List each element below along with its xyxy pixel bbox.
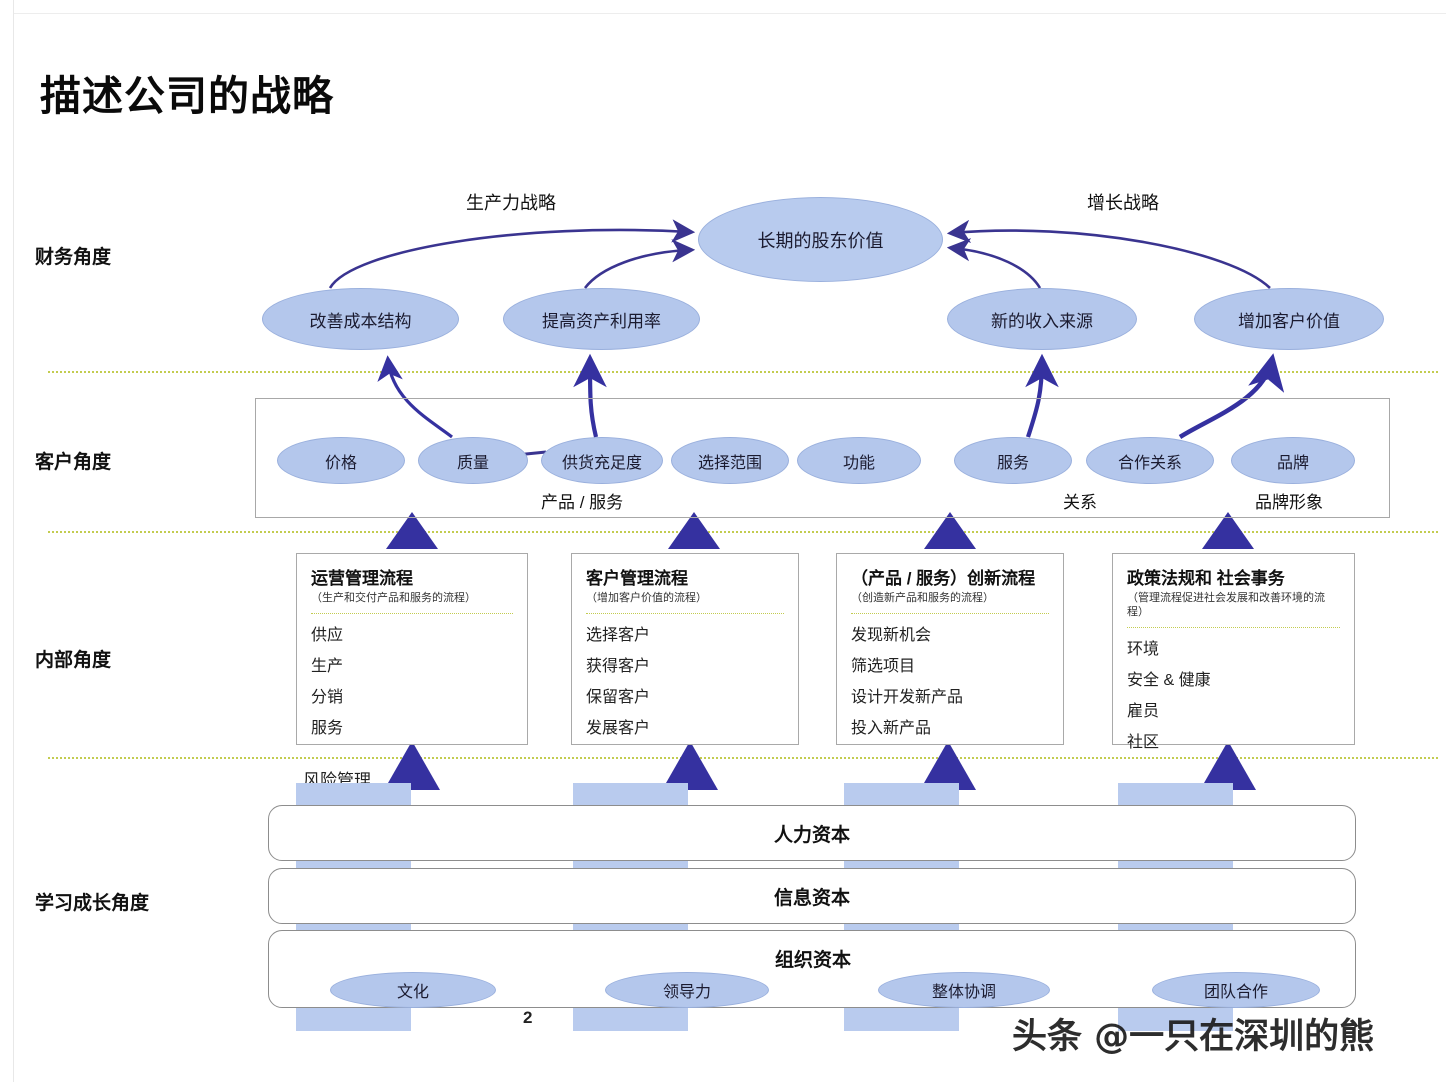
process-item: 安全 & 健康 (1127, 665, 1340, 696)
process-item: 获得客户 (586, 651, 784, 682)
process-item: 社区 (1127, 727, 1340, 758)
strategy-map-slide: 描述公司的战略 财务角度 客户角度 内部角度 学习成长角度 生产力战略 增长战略 (0, 0, 1446, 1082)
row-label-financial: 财务角度 (35, 242, 111, 269)
process-item: 发展客户 (586, 713, 784, 744)
process-item: 保留客户 (586, 682, 784, 713)
process-item: 投入新产品 (851, 713, 1049, 744)
process-item: 供应 (311, 620, 513, 651)
ellipse-culture[interactable]: 文化 (330, 972, 496, 1008)
process-subtitle: （管理流程促进社会发展和改善环境的流程） (1127, 592, 1340, 620)
ellipse-shareholder-value[interactable]: 长期的股东价值 (698, 197, 943, 282)
ellipse-alignment[interactable]: 整体协调 (878, 972, 1050, 1008)
process-rule (1127, 627, 1340, 628)
ellipse-brand[interactable]: 品牌 (1231, 437, 1355, 484)
slide-top-edge (0, 0, 1446, 14)
process-item: 生产 (311, 651, 513, 682)
process-item: 发现新机会 (851, 620, 1049, 651)
ellipse-quality[interactable]: 质量 (418, 437, 528, 484)
capital-title: 组织资本 (269, 945, 1357, 972)
process-item: 服务 (311, 713, 513, 744)
process-subtitle: （生产和交付产品和服务的流程） (311, 592, 513, 606)
capital-title: 人力资本 (774, 820, 850, 847)
process-item: 分销 (311, 682, 513, 713)
label-productivity-strategy: 生产力战略 (466, 189, 556, 215)
process-title: 政策法规和 社会事务 (1127, 564, 1340, 589)
divider-financial-customer (48, 371, 1438, 373)
group-label-product-service: 产品 / 服务 (541, 488, 623, 513)
page-number: 2 (523, 1008, 532, 1028)
ellipse-availability[interactable]: 供货充足度 (541, 437, 663, 484)
process-item: 雇员 (1127, 696, 1340, 727)
capital-box-information: 信息资本 (268, 868, 1356, 924)
process-subtitle: （创造新产品和服务的流程） (851, 592, 1049, 606)
ellipse-new-revenue-sources[interactable]: 新的收入来源 (947, 288, 1137, 350)
row-label-learning: 学习成长角度 (35, 888, 149, 915)
process-item: 环境 (1127, 634, 1340, 665)
process-box-regulatory-social: 政策法规和 社会事务 （管理流程促进社会发展和改善环境的流程） 环境 安全 & … (1112, 553, 1355, 745)
page-title: 描述公司的战略 (40, 62, 334, 122)
process-rule (586, 613, 784, 614)
ellipse-teamwork[interactable]: 团队合作 (1152, 972, 1320, 1008)
ellipse-leadership[interactable]: 领导力 (605, 972, 769, 1008)
process-title: 客户管理流程 (586, 564, 784, 589)
capital-title: 信息资本 (774, 883, 850, 910)
process-box-operations: 运营管理流程 （生产和交付产品和服务的流程） 供应 生产 分销 服务 (296, 553, 528, 745)
ellipse-improve-cost-structure[interactable]: 改善成本结构 (262, 288, 459, 350)
capital-box-human: 人力资本 (268, 805, 1356, 861)
group-label-brand-image: 品牌形象 (1255, 488, 1323, 513)
group-label-relationship: 关系 (1063, 488, 1097, 513)
process-box-innovation: （产品 / 服务）创新流程 （创造新产品和服务的流程） 发现新机会 筛选项目 设… (836, 553, 1064, 745)
slide-left-edge (0, 0, 14, 1082)
process-title: （产品 / 服务）创新流程 (851, 564, 1049, 589)
process-box-customer-management: 客户管理流程 （增加客户价值的流程） 选择客户 获得客户 保留客户 发展客户 (571, 553, 799, 745)
watermark: 头条 @一只在深圳的熊 (1012, 1008, 1374, 1059)
process-rule (311, 613, 513, 614)
process-item: 设计开发新产品 (851, 682, 1049, 713)
ellipse-increase-customer-value[interactable]: 增加客户价值 (1194, 288, 1384, 350)
process-rule (851, 613, 1049, 614)
process-title: 运营管理流程 (311, 564, 513, 589)
label-growth-strategy: 增长战略 (1087, 189, 1159, 215)
divider-customer-internal (48, 531, 1438, 533)
process-item: 筛选项目 (851, 651, 1049, 682)
row-label-customer: 客户角度 (35, 447, 111, 474)
row-label-internal: 内部角度 (35, 645, 111, 672)
ellipse-functionality[interactable]: 功能 (797, 437, 921, 484)
ellipse-increase-asset-utilization[interactable]: 提高资产利用率 (503, 288, 700, 350)
ellipse-price[interactable]: 价格 (277, 437, 405, 484)
process-item: 选择客户 (586, 620, 784, 651)
ellipse-service[interactable]: 服务 (954, 437, 1072, 484)
ellipse-partnership[interactable]: 合作关系 (1086, 437, 1214, 484)
ellipse-selection[interactable]: 选择范围 (671, 437, 789, 484)
process-subtitle: （增加客户价值的流程） (586, 592, 784, 606)
